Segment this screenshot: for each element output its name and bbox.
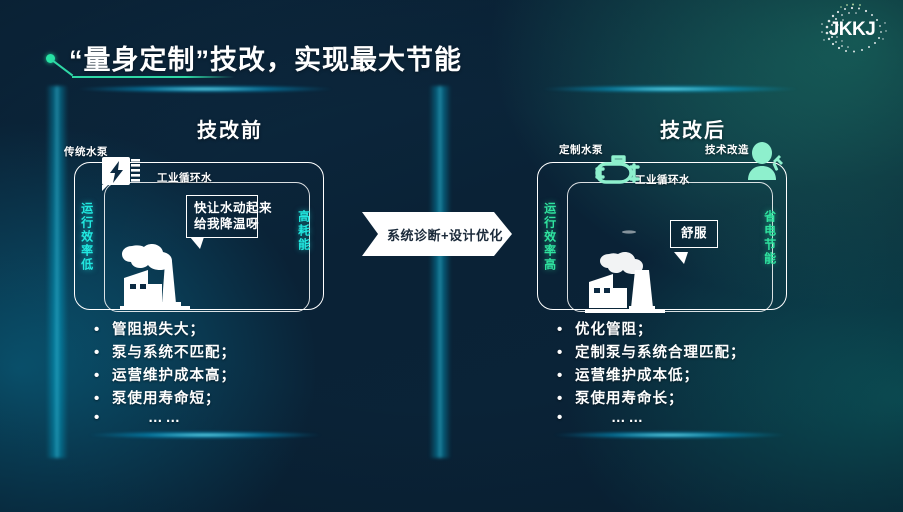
- bullet-glyph: •: [94, 410, 112, 425]
- list-item-text: 定制泵与系统合理匹配；: [575, 341, 746, 362]
- after-tech-label: 技术改造: [705, 142, 749, 157]
- logo-wordmark: JKKJ: [813, 2, 891, 58]
- list-item-text: 泵使用寿命长；: [575, 387, 684, 408]
- panel-before-heading: 技改前: [60, 114, 400, 143]
- list-item-text: 运营维护成本低；: [575, 364, 699, 385]
- list-item: • 运营维护成本低；: [557, 364, 857, 385]
- before-bubble-tail: [190, 237, 204, 249]
- before-bubble-line-2: 给我降温呀: [194, 217, 259, 231]
- list-item-text: 管阻损失大；: [112, 318, 205, 339]
- list-item-text: ……: [575, 410, 646, 426]
- before-energy-label: 高耗能: [297, 210, 310, 252]
- list-item: • 定制泵与系统合理匹配；: [557, 341, 857, 362]
- list-item: • 泵使用寿命短；: [94, 387, 394, 408]
- list-item-text: 泵使用寿命短；: [112, 387, 221, 408]
- page-title: “量身定制”技改，实现最大节能: [46, 38, 666, 84]
- traditional-pump-icon: [102, 155, 146, 191]
- panel-after: 技改后 定制水泵 工业循环水 技术改造 运行效率高 省电节能: [523, 100, 863, 440]
- after-bullet-list: • 优化管阻； • 定制泵与系统合理匹配； • 运营维护成本低； • 泵使用寿命…: [557, 318, 857, 428]
- bullet-glyph: •: [94, 322, 112, 337]
- after-saving-label: 省电节能: [763, 210, 776, 266]
- before-bubble-line-1: 快让水动起来: [194, 201, 272, 215]
- list-item: • 泵与系统不匹配；: [94, 341, 394, 362]
- custom-pump-icon: [593, 153, 645, 191]
- panel-before: 技改前 传统水泵 工业循环水 运行效率低 高耗能: [60, 100, 400, 440]
- bullet-glyph: •: [557, 410, 575, 425]
- brand-logo: JKKJ: [813, 2, 891, 58]
- glow-divider-center: [429, 86, 451, 458]
- bullet-glyph: •: [94, 345, 112, 360]
- after-efficiency-label: 运行效率高: [543, 202, 556, 272]
- bullet-glyph: •: [94, 391, 112, 406]
- slide-canvas: JKKJ “量身定制”技改，实现最大节能 技改前 传统水泵 工业循环水 运行效率…: [0, 0, 903, 512]
- bullet-glyph: •: [557, 391, 575, 406]
- after-speech-bubble: 舒服: [670, 220, 718, 248]
- list-item: • ……: [94, 410, 394, 426]
- title-text: “量身定制”技改，实现最大节能: [69, 38, 462, 77]
- list-item: • ……: [557, 410, 857, 426]
- list-item-text: 优化管阻；: [575, 318, 653, 339]
- transform-arrow-label: 系统诊断+设计优化: [362, 212, 512, 256]
- bullet-glyph: •: [557, 345, 575, 360]
- bullet-glyph: •: [94, 368, 112, 383]
- list-item: • 管阻损失大；: [94, 318, 394, 339]
- list-item: • 运营维护成本高；: [94, 364, 394, 385]
- glow-line-top-right: [505, 84, 835, 94]
- before-circulation-label: 工业循环水: [157, 170, 212, 185]
- bullet-glyph: •: [557, 322, 575, 337]
- after-bubble-tail: [674, 252, 688, 264]
- list-item-text: ……: [112, 410, 183, 426]
- list-item-text: 泵与系统不匹配；: [112, 341, 236, 362]
- bullet-glyph: •: [557, 368, 575, 383]
- before-bullet-list: • 管阻损失大； • 泵与系统不匹配； • 运营维护成本高； • 泵使用寿命短；…: [94, 318, 394, 428]
- technician-icon: [745, 142, 787, 184]
- panel-after-heading: 技改后: [523, 114, 863, 143]
- before-efficiency-label: 运行效率低: [80, 202, 93, 272]
- list-item-text: 运营维护成本高；: [112, 364, 236, 385]
- list-item: • 优化管阻；: [557, 318, 857, 339]
- glow-line-top-left: [40, 84, 370, 94]
- list-item: • 泵使用寿命长；: [557, 387, 857, 408]
- before-speech-bubble: 快让水动起来 给我降温呀: [186, 195, 258, 238]
